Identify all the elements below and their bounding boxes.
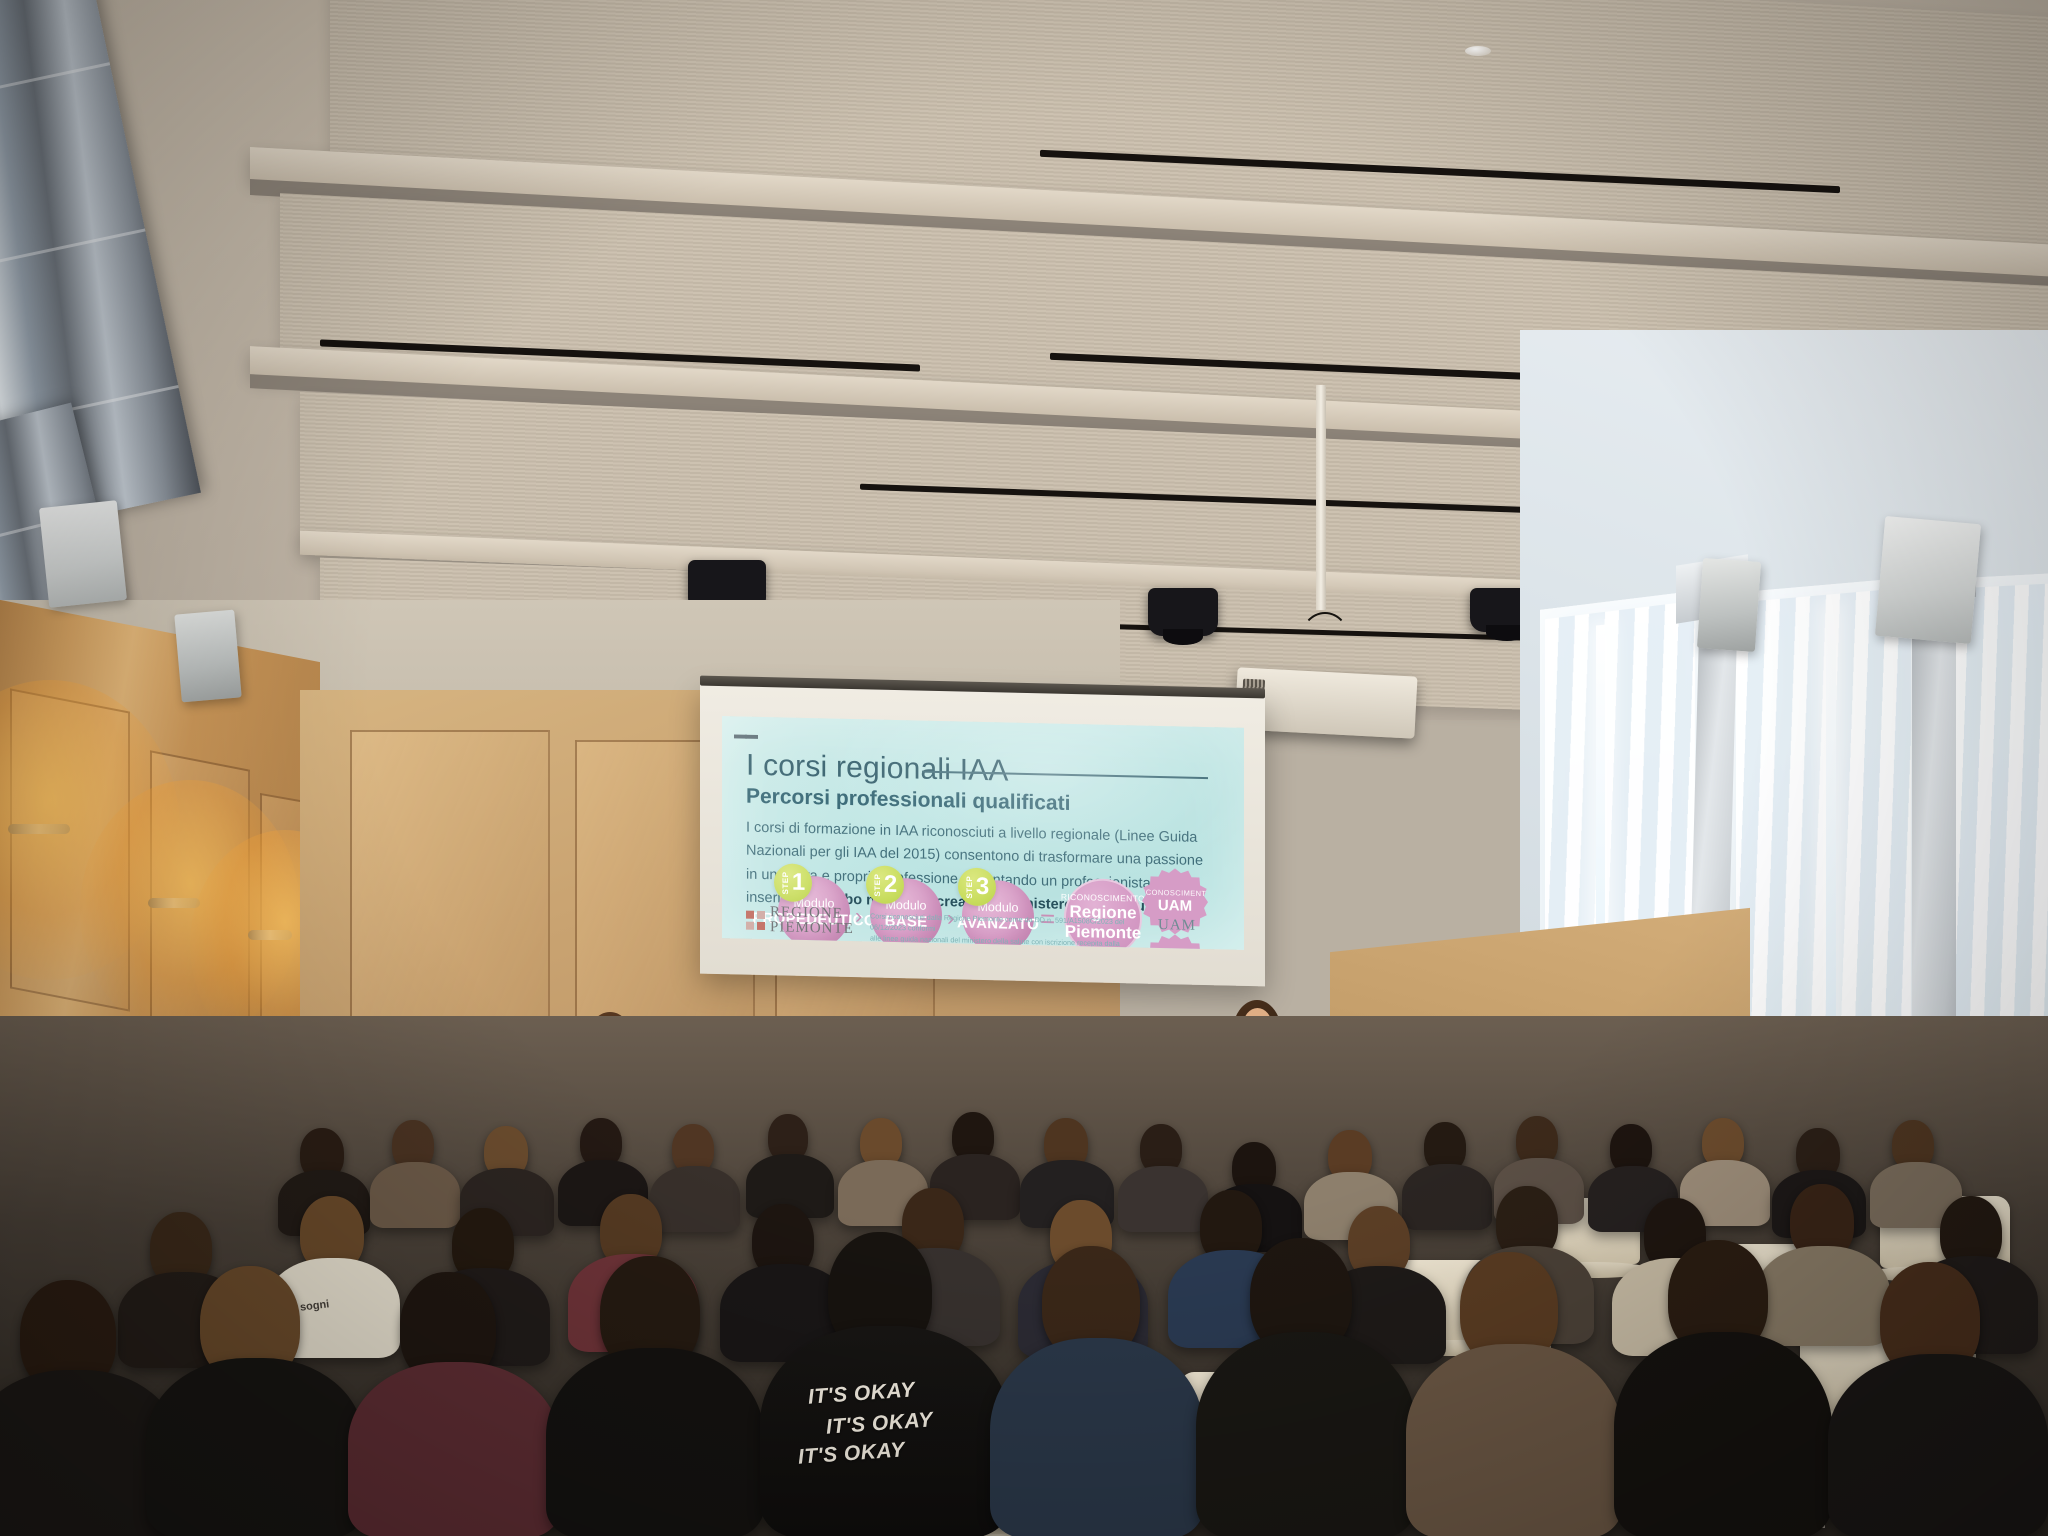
- step-1-word: STEP: [781, 871, 790, 894]
- uam-logo-text: UAM: [1158, 917, 1196, 934]
- step-2-number: 2: [884, 873, 897, 897]
- slide-marker-icon: ▬▬: [734, 726, 756, 741]
- audience-shoulders: [1196, 1332, 1416, 1536]
- audience-shoulders: [1118, 1166, 1208, 1232]
- audience-shoulders: [1402, 1164, 1492, 1230]
- audience-shoulders: [1828, 1354, 2048, 1536]
- step-badge-2: STEP 2: [866, 865, 904, 904]
- stage-wood-panel-1: [350, 730, 550, 1060]
- audience-shoulders: [546, 1348, 764, 1536]
- regione-logo-mark: [746, 910, 765, 929]
- audience-shoulders: [146, 1358, 364, 1536]
- audience-shoulders: [1756, 1246, 1890, 1346]
- smoke-detector-icon: [1465, 46, 1491, 56]
- wall-speaker-left-2: [174, 610, 241, 703]
- badge-uam-value: UAM: [1158, 896, 1192, 915]
- audience-shoulders: [1614, 1332, 1832, 1536]
- slide-title: I corsi regionali IAA: [746, 749, 1009, 789]
- presentation-slide: ▬▬ I corsi regionali IAA Percorsi profes…: [722, 716, 1244, 950]
- audience-shoulders: [990, 1338, 1204, 1536]
- badge-linee-guida: CONFORME LINEE GUIDA NAZIONALI: [1142, 934, 1208, 950]
- wall-sconce-2: [148, 898, 200, 908]
- audience-shoulders: [348, 1362, 560, 1536]
- wall-sconce-1: [8, 824, 70, 834]
- step-2-word: STEP: [873, 873, 882, 896]
- audience-shoulders: [1406, 1344, 1622, 1536]
- step-1-number: 1: [792, 871, 805, 895]
- wood-panel-1: [10, 688, 130, 1011]
- uam-partner-logo: UAM: [1158, 916, 1196, 935]
- projector-cable: [1300, 612, 1350, 668]
- audience-shoulders: [650, 1166, 740, 1232]
- auditorium-photo: ▬▬ I corsi regionali IAA Percorsi profes…: [0, 0, 2048, 1536]
- step-chevron-1: ›: [855, 903, 862, 929]
- slide-subtitle: Percorsi professionali qualificati: [746, 785, 1070, 816]
- projector-mount-pole: [1316, 385, 1326, 610]
- step-3-word: STEP: [965, 875, 974, 898]
- regione-piemonte-logo: REGIONE PIEMONTE: [746, 905, 854, 937]
- wall-speaker-left: [39, 500, 127, 608]
- regione-logo-line2: PIEMONTE: [770, 920, 854, 937]
- wall-sconce-3: [248, 930, 292, 940]
- wall-speaker-right-2: [1697, 558, 1761, 652]
- regione-logo-text: REGIONE PIEMONTE: [770, 905, 854, 937]
- audience-shoulders: [370, 1162, 460, 1228]
- step-badge-1: STEP 1: [774, 863, 812, 902]
- step-3-number: 3: [976, 875, 989, 899]
- wall-speaker-right: [1875, 516, 1981, 644]
- badge-uam-label: RICONOSCIMENTO: [1137, 887, 1212, 898]
- stage-spotlight-3: [1148, 588, 1218, 636]
- step-badge-3: STEP 3: [958, 867, 996, 906]
